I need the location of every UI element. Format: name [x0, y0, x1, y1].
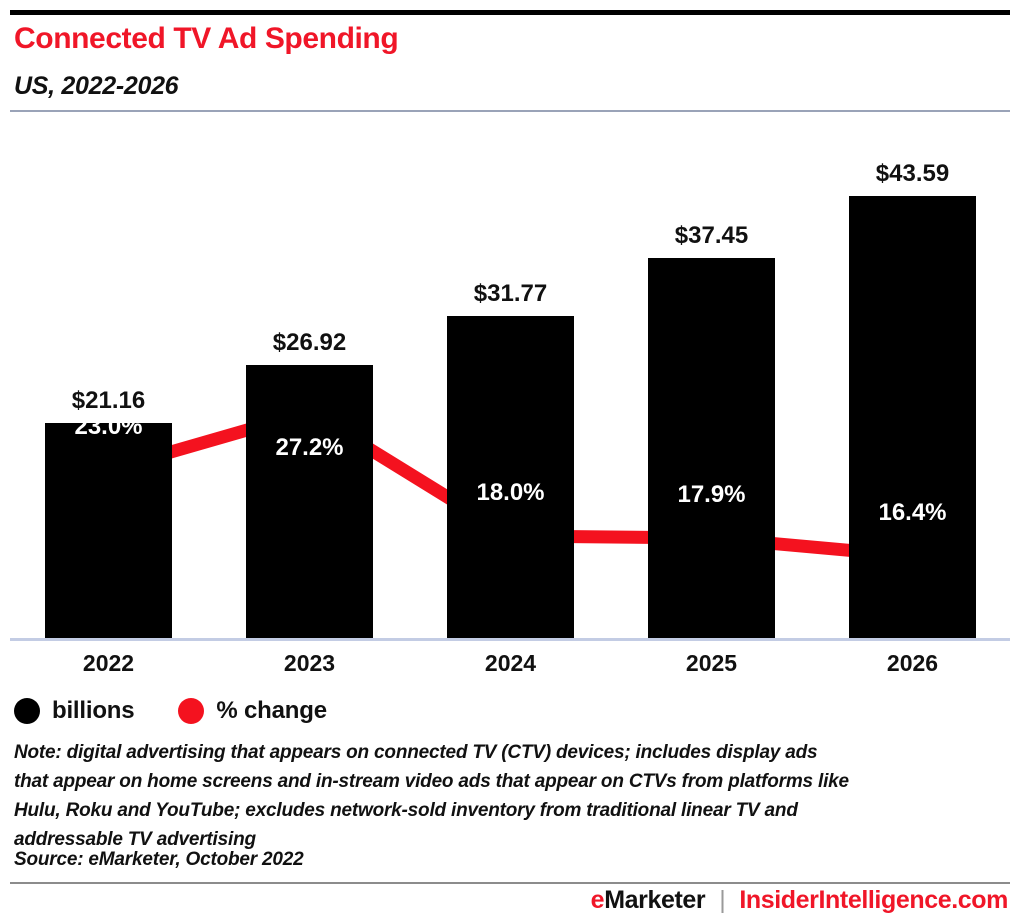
chart-note: Note: digital advertising that appears o… — [14, 738, 994, 854]
bar-value-label-2025: $37.45 — [623, 222, 800, 250]
bar-2023 — [246, 365, 373, 638]
chart-page: Connected TV Ad Spending US, 2022-2026 $… — [0, 0, 1020, 920]
chart-source: Source: eMarketer, October 2022 — [14, 849, 994, 871]
legend-item-billions: billions — [14, 697, 134, 725]
x-axis-line — [10, 638, 1010, 641]
x-axis-label-2022: 2022 — [20, 650, 197, 677]
insider-intelligence-wordmark: InsiderIntelligence.com — [739, 886, 1008, 915]
legend-label-pct-change: % change — [216, 697, 326, 725]
black-circle-icon — [14, 698, 40, 724]
note-line-1: Note: digital advertising that appears o… — [14, 738, 994, 767]
bar-value-label-2022: $21.16 — [20, 387, 197, 415]
note-line-2: that appear on home screens and in-strea… — [14, 767, 994, 796]
bar-2024 — [447, 316, 574, 638]
pct-change-label-2026: 16.4% — [824, 499, 1001, 527]
pct-change-label-2022: 23.0% — [20, 413, 197, 441]
emarketer-wordmark: Marketer — [604, 886, 705, 915]
brand-separator: | — [719, 886, 725, 915]
pct-change-label-2025: 17.9% — [623, 481, 800, 509]
note-line-3: Hulu, Roku and YouTube; excludes network… — [14, 796, 994, 825]
legend-item-pct-change: % change — [178, 697, 326, 725]
pct-change-label-2024: 18.0% — [422, 479, 599, 507]
bar-value-label-2026: $43.59 — [824, 160, 1001, 188]
x-axis-label-2023: 2023 — [221, 650, 398, 677]
x-axis-label-2025: 2025 — [623, 650, 800, 677]
brand-footer: e Marketer | InsiderIntelligence.com — [591, 886, 1008, 915]
bar-value-label-2023: $26.92 — [221, 329, 398, 357]
chart-plot-area: $21.16202223.0%$26.92202327.2%$31.772024… — [0, 0, 1020, 690]
footer-divider — [10, 882, 1010, 884]
chart-legend: billions % change — [14, 694, 371, 728]
bar-value-label-2024: $31.77 — [422, 280, 599, 308]
bar-2025 — [648, 258, 775, 638]
x-axis-label-2026: 2026 — [824, 650, 1001, 677]
legend-label-billions: billions — [52, 697, 134, 725]
bar-2026 — [849, 196, 976, 638]
red-circle-icon — [178, 698, 204, 724]
bar-2022 — [45, 423, 172, 638]
emarketer-e: e — [591, 886, 605, 915]
pct-change-label-2023: 27.2% — [221, 434, 398, 462]
x-axis-label-2024: 2024 — [422, 650, 599, 677]
